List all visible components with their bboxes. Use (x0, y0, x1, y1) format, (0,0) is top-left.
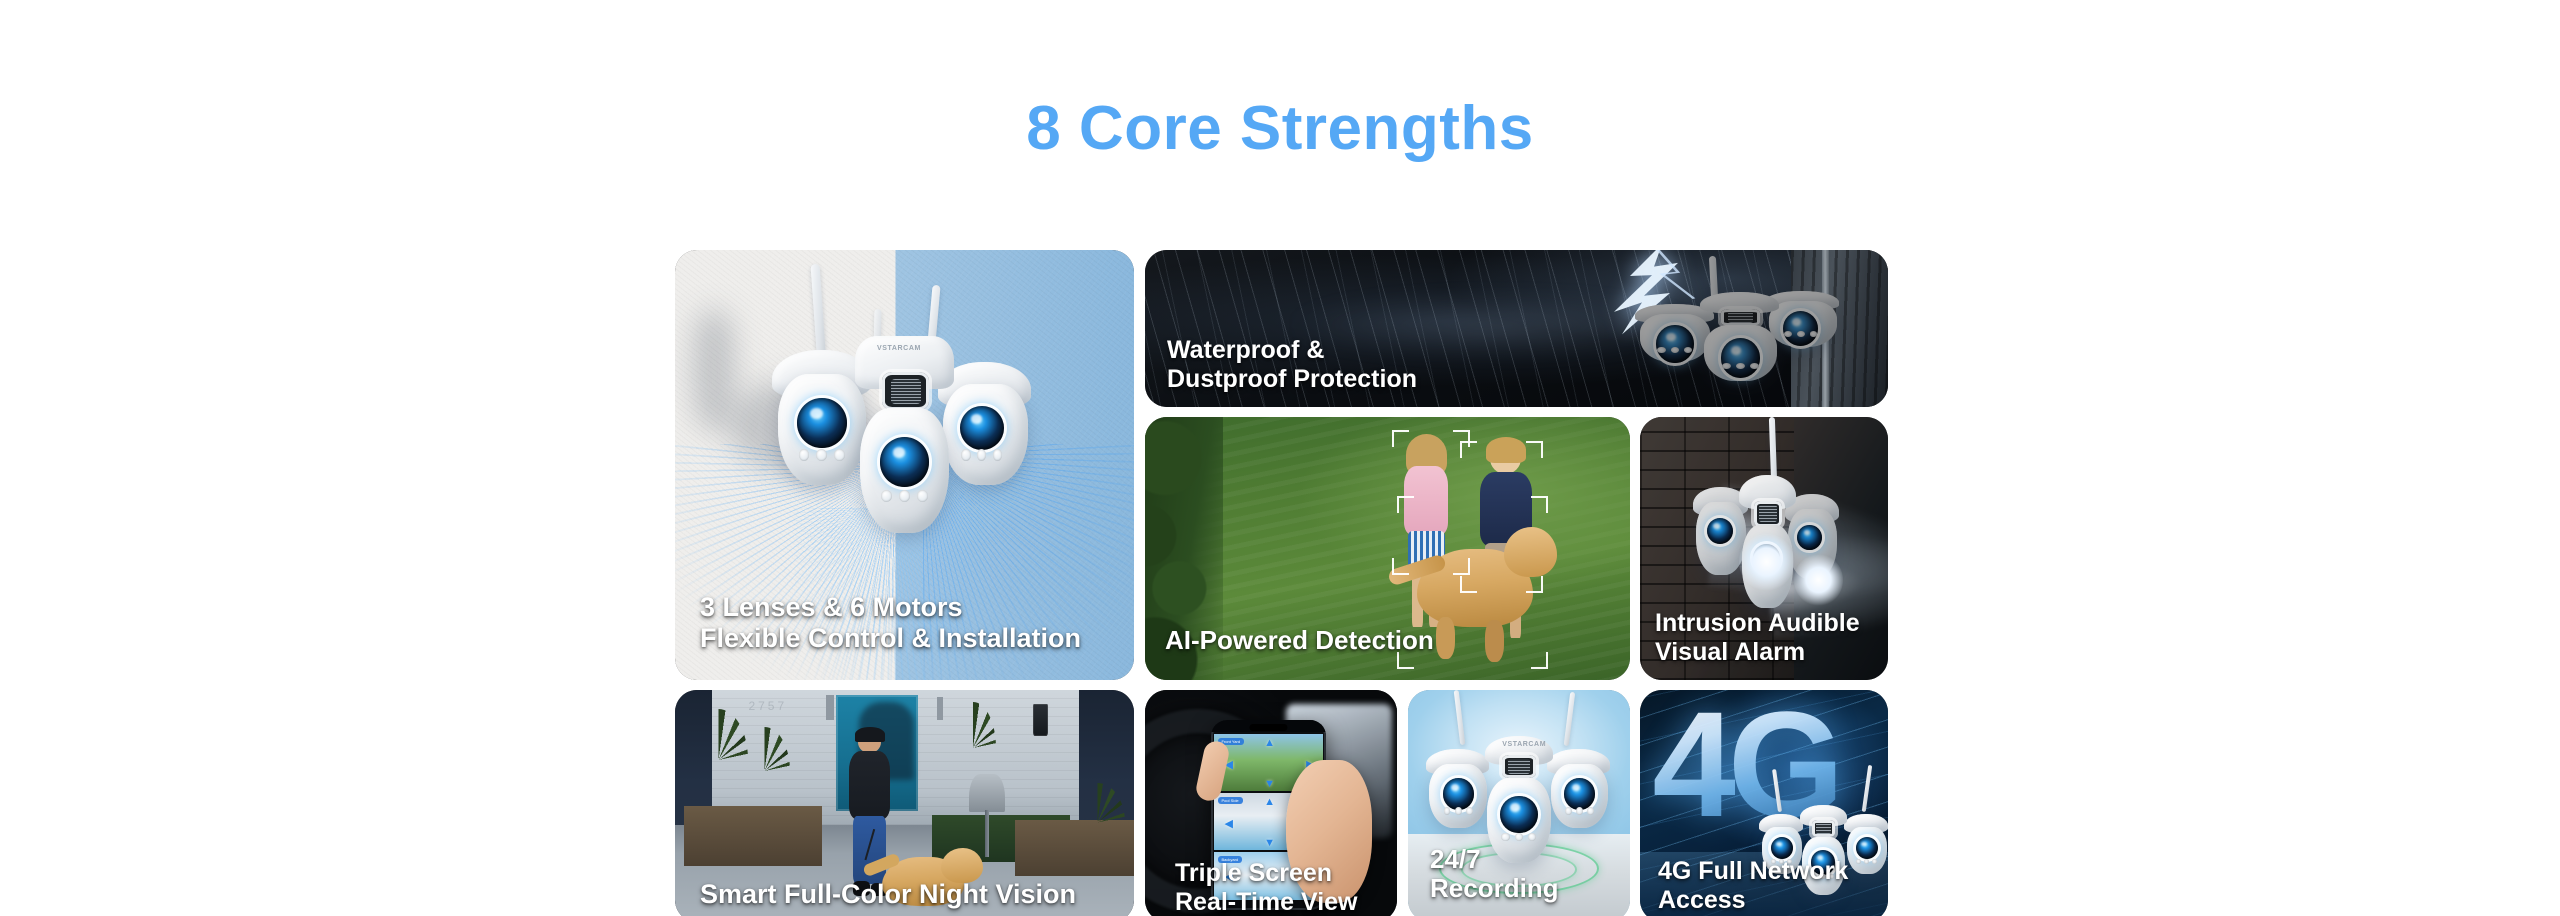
speaker-grille-icon (1502, 755, 1536, 778)
feature-card-4g-network[interactable]: 4G 4G Full Network Access (1640, 690, 1888, 916)
camera-right-lens-icon (960, 406, 1004, 450)
plant-left-2 (739, 727, 789, 815)
camera-left-leds (1443, 807, 1475, 815)
camera-center-lens-icon (880, 437, 930, 487)
card-caption: AI-Powered Detection (1165, 626, 1612, 656)
card-caption: Triple Screen Real-Time View (1175, 859, 1379, 916)
speaker-grille-icon (1812, 820, 1835, 837)
feature-card-intrusion-alarm[interactable]: Intrusion Audible Visual Alarm (1640, 417, 1888, 680)
camera-right-lens-icon (1856, 837, 1878, 859)
boy-hair (1486, 437, 1526, 462)
camera-left-lens-icon (1771, 837, 1793, 859)
porch-lamp-icon (1033, 704, 1048, 736)
camera-left-leds (797, 449, 847, 461)
camera-center-lens-icon (1500, 796, 1537, 833)
camera-right-leds (1564, 807, 1596, 815)
camera-right-lens-icon (1797, 525, 1822, 550)
card-caption: 4G Full Network Access (1658, 857, 1870, 914)
page-title: 8 Core Strengths (0, 95, 2560, 163)
product-feature-page: 8 Core Strengths (0, 0, 2560, 916)
feature-card-night-vision[interactable]: 2757 (675, 690, 1134, 916)
ptz-camera-illustration: VSTARCAM (767, 297, 1042, 538)
wall-sconce-left (826, 695, 833, 721)
camera-right-leds (960, 449, 1004, 461)
camera-left-lens-icon (797, 398, 847, 448)
speaker-grille-icon (1721, 309, 1761, 327)
camera-right-lens-icon (1564, 778, 1596, 810)
feed-label-2: Pool Side (1218, 797, 1243, 804)
feature-card-grid: VSTARCAM 3 Lenses & 6 Motors Flexible Co… (675, 250, 1888, 916)
mailbox (969, 774, 1006, 858)
feature-card-triple-screen[interactable]: Front Yard ◀ ▶ ▲ ▼ Pool Side ◀ ▶ ▲ ▼ Bac… (1145, 690, 1397, 916)
dog-head (941, 848, 982, 883)
speaker-grille-icon (882, 372, 929, 411)
card-caption: Intrusion Audible Visual Alarm (1655, 609, 1870, 666)
camera-center-leds (880, 490, 930, 502)
phone-notch (1250, 724, 1287, 731)
camera-left-lens-icon (1443, 778, 1475, 810)
mulch-bed-left (684, 806, 822, 866)
feature-card-24-7-recording[interactable]: VSTARCAM 24/7 Recording (1408, 690, 1630, 916)
house-number: 2757 (748, 699, 789, 715)
camera-left-lens-icon (1707, 518, 1733, 544)
card-caption: 3 Lenses & 6 Motors Flexible Control & I… (700, 592, 1116, 654)
feature-card-waterproof-dustproof[interactable]: Waterproof & Dustproof Protection (1145, 250, 1888, 407)
man-cap (855, 727, 885, 742)
dog-head (1504, 527, 1557, 577)
plant-right-2 (1070, 783, 1125, 862)
brand-label: VSTARCAM (877, 345, 921, 352)
antenna-shadow (693, 310, 734, 430)
brand-label: VSTARCAM (1502, 741, 1546, 748)
man-shirt (849, 751, 890, 819)
wall-sconce-right (937, 697, 943, 720)
card-caption: Waterproof & Dustproof Protection (1167, 336, 1870, 393)
speaker-grille-icon (1754, 501, 1782, 527)
card-caption: Smart Full-Color Night Vision (700, 879, 1116, 910)
camera-center-leds (1500, 833, 1537, 841)
feature-card-3-lenses-6-motors[interactable]: VSTARCAM 3 Lenses & 6 Motors Flexible Co… (675, 250, 1134, 680)
girl-shirt (1404, 466, 1448, 534)
spotlight-source-left (1739, 533, 1794, 591)
feature-card-ai-powered-detection[interactable]: AI-Powered Detection (1145, 417, 1630, 680)
card-caption: 24/7 Recording (1430, 845, 1612, 904)
